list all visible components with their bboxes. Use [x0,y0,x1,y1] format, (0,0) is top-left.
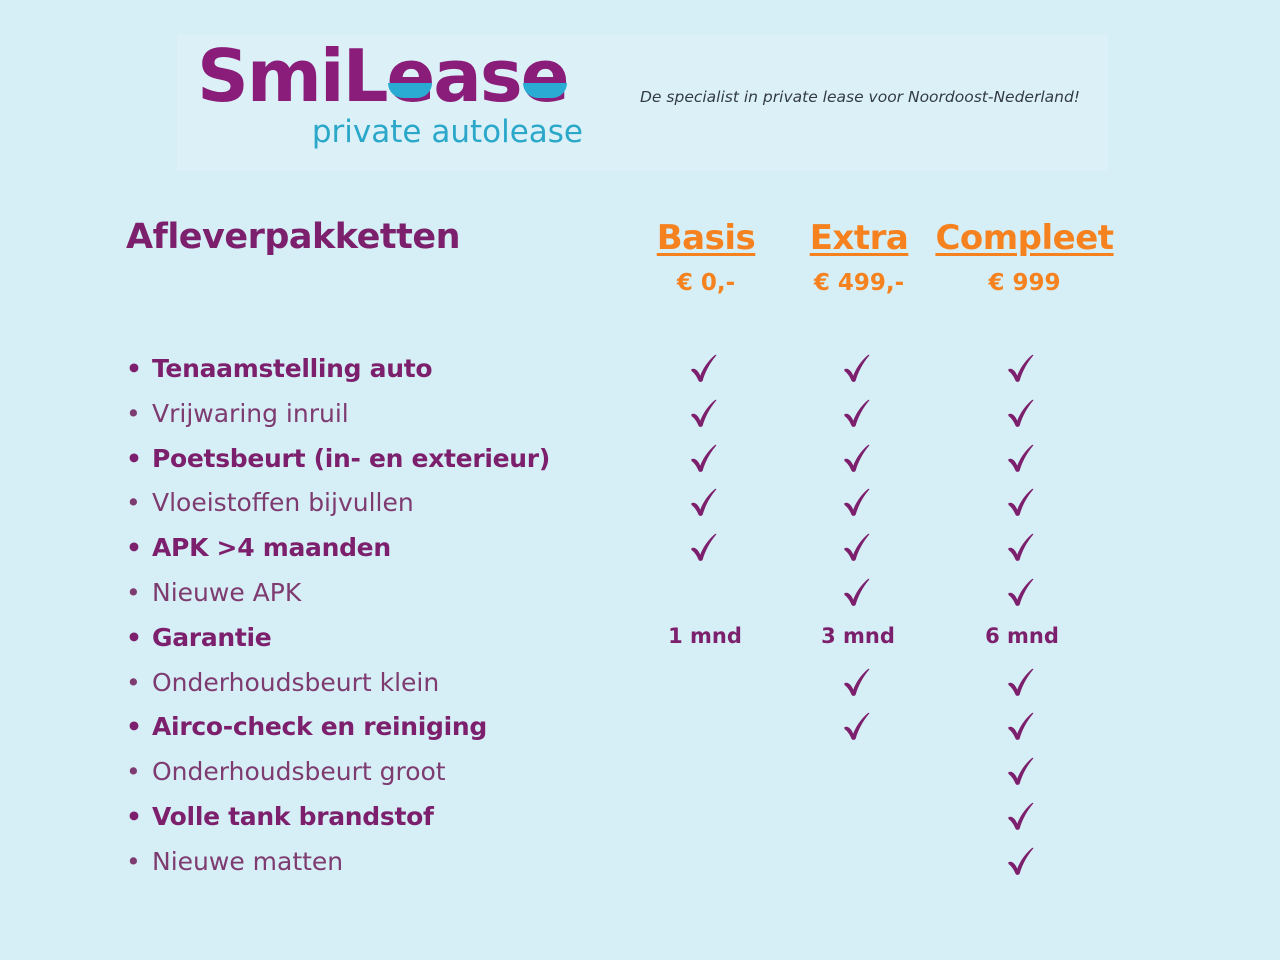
cell-compleet [962,752,1082,794]
cell-compleet [962,797,1082,839]
checkmark-icon [1003,394,1041,432]
table-row: •Onderhoudsbeurt klein [0,665,1280,710]
cell-compleet [962,483,1082,525]
checkmark-icon [1003,573,1041,611]
feature-label: •Nieuwe matten [126,844,343,880]
table-row: •Nieuwe matten [0,844,1280,889]
cell-extra [798,573,918,615]
table-row: •APK >4 maanden [0,530,1280,575]
checkmark-icon [1003,842,1041,880]
checkmark-icon [839,663,877,701]
logo-half-e-second: e [521,40,568,112]
cell-compleet [962,842,1082,884]
feature-label: •Volle tank brandstof [126,799,434,835]
feature-label: •Nieuwe APK [126,575,301,611]
checkmark-icon [839,439,877,477]
bullet-icon: • [126,351,152,387]
column-header-compleet: Compleet € 999 [922,218,1127,296]
checkmark-icon [839,573,877,611]
cell-compleet [962,349,1082,391]
cell-compleet [962,663,1082,705]
cell-basis [645,349,765,391]
cell-compleet [962,394,1082,436]
cell-compleet [962,528,1082,570]
cell-compleet [962,573,1082,615]
feature-label: •Onderhoudsbeurt groot [126,754,446,790]
column-name-compleet: Compleet [922,218,1127,258]
feature-label-text: Nieuwe matten [152,847,343,876]
cell-extra [798,528,918,570]
feature-label-text: Nieuwe APK [152,578,301,607]
feature-label: •Poetsbeurt (in- en exterieur) [126,441,550,477]
cell-compleet: 6 mnd [962,618,1082,654]
feature-label-text: Volle tank brandstof [152,802,434,831]
checkmark-icon [1003,439,1041,477]
table-row: •Vrijwaring inruil [0,396,1280,441]
cell-basis [645,528,765,570]
feature-label: •APK >4 maanden [126,530,391,566]
checkmark-icon [839,528,877,566]
bullet-icon: • [126,575,152,611]
checkmark-icon [839,349,877,387]
cell-extra [798,439,918,481]
cell-compleet [962,439,1082,481]
table-row: •Airco-check en reiniging [0,709,1280,754]
brand-logo: SmiLease private autolease [197,40,587,150]
duration-value: 6 mnd [985,624,1059,648]
bullet-icon: • [126,799,152,835]
page-title: Afleverpakketten [126,217,460,257]
cell-compleet [962,707,1082,749]
logo-half-e-first: e [386,40,433,112]
feature-rows: •Tenaamstelling auto•Vrijwaring inruil•P… [0,351,1280,889]
duration-value: 1 mnd [668,624,742,648]
feature-label: •Vloeistoffen bijvullen [126,485,414,521]
column-name-extra: Extra [779,218,939,258]
column-price-extra: € 499,- [779,270,939,296]
logo-text-smi: Smi [197,34,343,118]
table-row: •Volle tank brandstof [0,799,1280,844]
cell-basis [645,483,765,525]
cell-extra [798,349,918,391]
column-header-extra: Extra € 499,- [779,218,939,296]
bullet-icon: • [126,665,152,701]
checkmark-icon [1003,663,1041,701]
logo-subtitle: private autolease [197,114,587,150]
feature-label-text: Tenaamstelling auto [152,354,432,383]
table-row: •Vloeistoffen bijvullen [0,485,1280,530]
feature-label-text: Onderhoudsbeurt groot [152,757,446,786]
cell-extra [798,707,918,749]
checkmark-icon [686,439,724,477]
feature-label-text: Vloeistoffen bijvullen [152,488,414,517]
column-name-basis: Basis [626,218,786,258]
feature-label: •Airco-check en reiniging [126,709,487,745]
feature-label-text: Vrijwaring inruil [152,399,349,428]
cell-extra [798,663,918,705]
checkmark-icon [1003,797,1041,835]
table-row: •Poetsbeurt (in- en exterieur) [0,441,1280,486]
checkmark-icon [686,528,724,566]
feature-label: •Tenaamstelling auto [126,351,432,387]
checkmark-icon [839,707,877,745]
feature-label: •Vrijwaring inruil [126,396,349,432]
table-row: •Garantie1 mnd3 mnd6 mnd [0,620,1280,665]
cell-extra [798,483,918,525]
checkmark-icon [1003,349,1041,387]
checkmark-icon [686,483,724,521]
checkmark-icon [1003,483,1041,521]
logo-text-l: L [343,34,387,118]
cell-extra: 3 mnd [798,618,918,654]
checkmark-icon [1003,752,1041,790]
feature-label-text: Poetsbeurt (in- en exterieur) [152,444,550,473]
checkmark-icon [1003,707,1041,745]
bullet-icon: • [126,441,152,477]
bullet-icon: • [126,396,152,432]
checkmark-icon [686,349,724,387]
feature-label-text: Airco-check en reiniging [152,712,487,741]
checkmark-icon [686,394,724,432]
column-header-basis: Basis € 0,- [626,218,786,296]
table-row: •Onderhoudsbeurt groot [0,754,1280,799]
column-price-basis: € 0,- [626,270,786,296]
checkmark-icon [1003,528,1041,566]
bullet-icon: • [126,530,152,566]
feature-label-text: Garantie [152,623,271,652]
logo-wordmark: SmiLease [197,40,587,112]
bullet-icon: • [126,754,152,790]
brand-tagline: De specialist in private lease voor Noor… [640,88,1080,106]
bullet-icon: • [126,485,152,521]
checkmark-icon [839,394,877,432]
logo-text-as: as [433,34,520,118]
cell-extra [798,394,918,436]
column-price-compleet: € 999 [922,270,1127,296]
bullet-icon: • [126,844,152,880]
table-row: •Nieuwe APK [0,575,1280,620]
table-row: •Tenaamstelling auto [0,351,1280,396]
cell-basis: 1 mnd [645,618,765,654]
bullet-icon: • [126,709,152,745]
cell-basis [645,394,765,436]
feature-label: •Garantie [126,620,271,656]
checkmark-icon [839,483,877,521]
feature-label-text: Onderhoudsbeurt klein [152,668,439,697]
feature-label-text: APK >4 maanden [152,533,391,562]
cell-basis [645,439,765,481]
duration-value: 3 mnd [821,624,895,648]
bullet-icon: • [126,620,152,656]
feature-label: •Onderhoudsbeurt klein [126,665,439,701]
